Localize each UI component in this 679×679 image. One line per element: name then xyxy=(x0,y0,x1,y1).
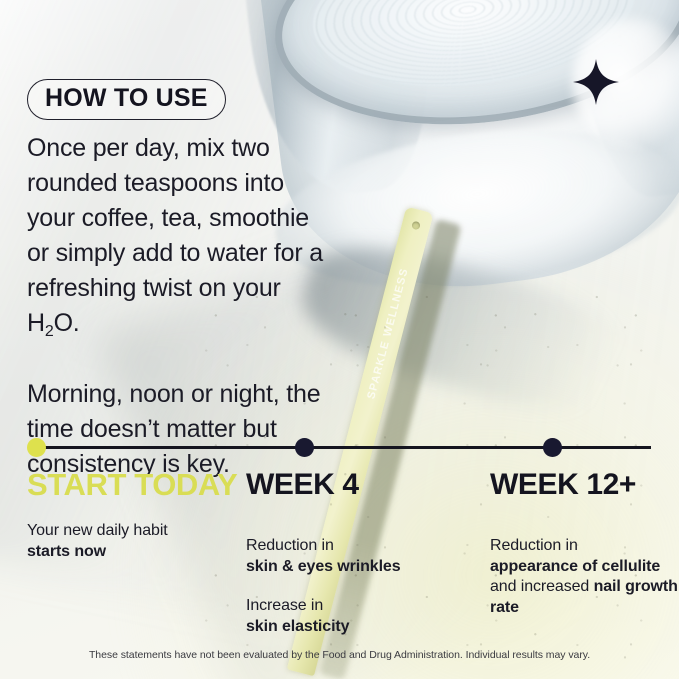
milestone-facts-start-today: Your new daily habit starts now xyxy=(27,521,242,562)
fact-item: Reduction in appearance of cellulite and… xyxy=(490,536,679,618)
timeline-column-week-4: WEEK 4 Reduction in skin & eyes wrinkles… xyxy=(246,469,471,637)
fact-item: Reduction in skin & eyes wrinkles xyxy=(246,536,471,577)
timeline-dot-start-today xyxy=(27,438,46,457)
instructions-paragraph-1-text-a: Once per day, mix two rounded teaspoons … xyxy=(27,134,323,337)
card-content: HOW TO USE Once per day, mix two rounded… xyxy=(0,0,679,679)
instructions-copy: Once per day, mix two rounded teaspoons … xyxy=(27,131,337,482)
fact-tail-lead: and increased xyxy=(490,578,594,595)
instructions-paragraph-1-text-b: O. xyxy=(54,309,80,337)
fact-item: Increase in skin elasticity xyxy=(246,596,471,637)
milestone-title-start-today: START TODAY xyxy=(27,469,242,501)
product-instruction-card: SPARKLE WELLNESS HOW TO USE Once per day… xyxy=(0,0,679,679)
milestone-facts-week-12-plus: Reduction in appearance of cellulite and… xyxy=(490,536,679,618)
how-to-use-badge: HOW TO USE xyxy=(27,79,226,120)
fact-strong: starts now xyxy=(27,543,106,560)
fact-lead: Increase in xyxy=(246,597,323,614)
fact-item: Your new daily habit starts now xyxy=(27,521,242,562)
results-timeline xyxy=(27,440,652,454)
timeline-dot-week-12-plus xyxy=(543,438,562,457)
fact-strong: skin elasticity xyxy=(246,618,349,635)
milestone-title-week-4: WEEK 4 xyxy=(246,469,471,500)
h2o-subscript: 2 xyxy=(45,323,54,340)
instructions-paragraph-1: Once per day, mix two rounded teaspoons … xyxy=(27,131,337,344)
fact-lead: Reduction in xyxy=(246,537,334,554)
fact-strong: appearance of cellulite xyxy=(490,558,660,575)
fact-lead: Your new daily habit xyxy=(27,522,168,539)
how-to-use-label: HOW TO USE xyxy=(45,84,208,112)
timeline-column-week-12-plus: WEEK 12+ Reduction in appearance of cell… xyxy=(490,469,679,618)
fact-strong: skin & eyes wrinkles xyxy=(246,558,401,575)
legal-disclaimer: These statements have not been evaluated… xyxy=(0,649,679,661)
fact-lead: Reduction in xyxy=(490,537,578,554)
milestone-facts-week-4: Reduction in skin & eyes wrinkles Increa… xyxy=(246,536,471,637)
timeline-column-start-today: START TODAY Your new daily habit starts … xyxy=(27,469,242,562)
milestone-title-week-12-plus: WEEK 12+ xyxy=(490,469,679,500)
timeline-dot-week-4 xyxy=(295,438,314,457)
